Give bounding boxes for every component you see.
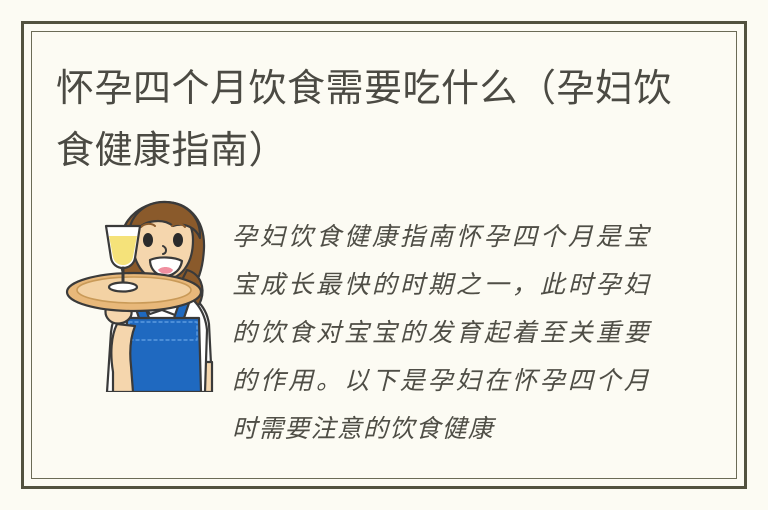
right-eye-icon — [173, 233, 183, 247]
article-body-text: 孕妇饮食健康指南怀孕四个月是宝宝成长最快的时期之一，此时孕妇的饮食对宝宝的发育起… — [232, 213, 650, 453]
left-eye-icon — [143, 233, 153, 247]
page-title: 怀孕四个月饮食需要吃什么（孕妇饮食健康指南） — [56, 57, 676, 181]
apron-body-shape — [125, 318, 201, 392]
waitress-with-tray-icon — [55, 196, 220, 392]
waitress-illustration — [55, 196, 220, 392]
left-arm-shape — [111, 324, 135, 392]
content-area: 孕妇饮食健康指南怀孕四个月是宝宝成长最快的时期之一，此时孕妇的饮食对宝宝的发育起… — [55, 196, 655, 436]
document-page: 怀孕四个月饮食需要吃什么（孕妇饮食健康指南） — [0, 0, 768, 510]
glass-base-icon — [109, 283, 137, 292]
